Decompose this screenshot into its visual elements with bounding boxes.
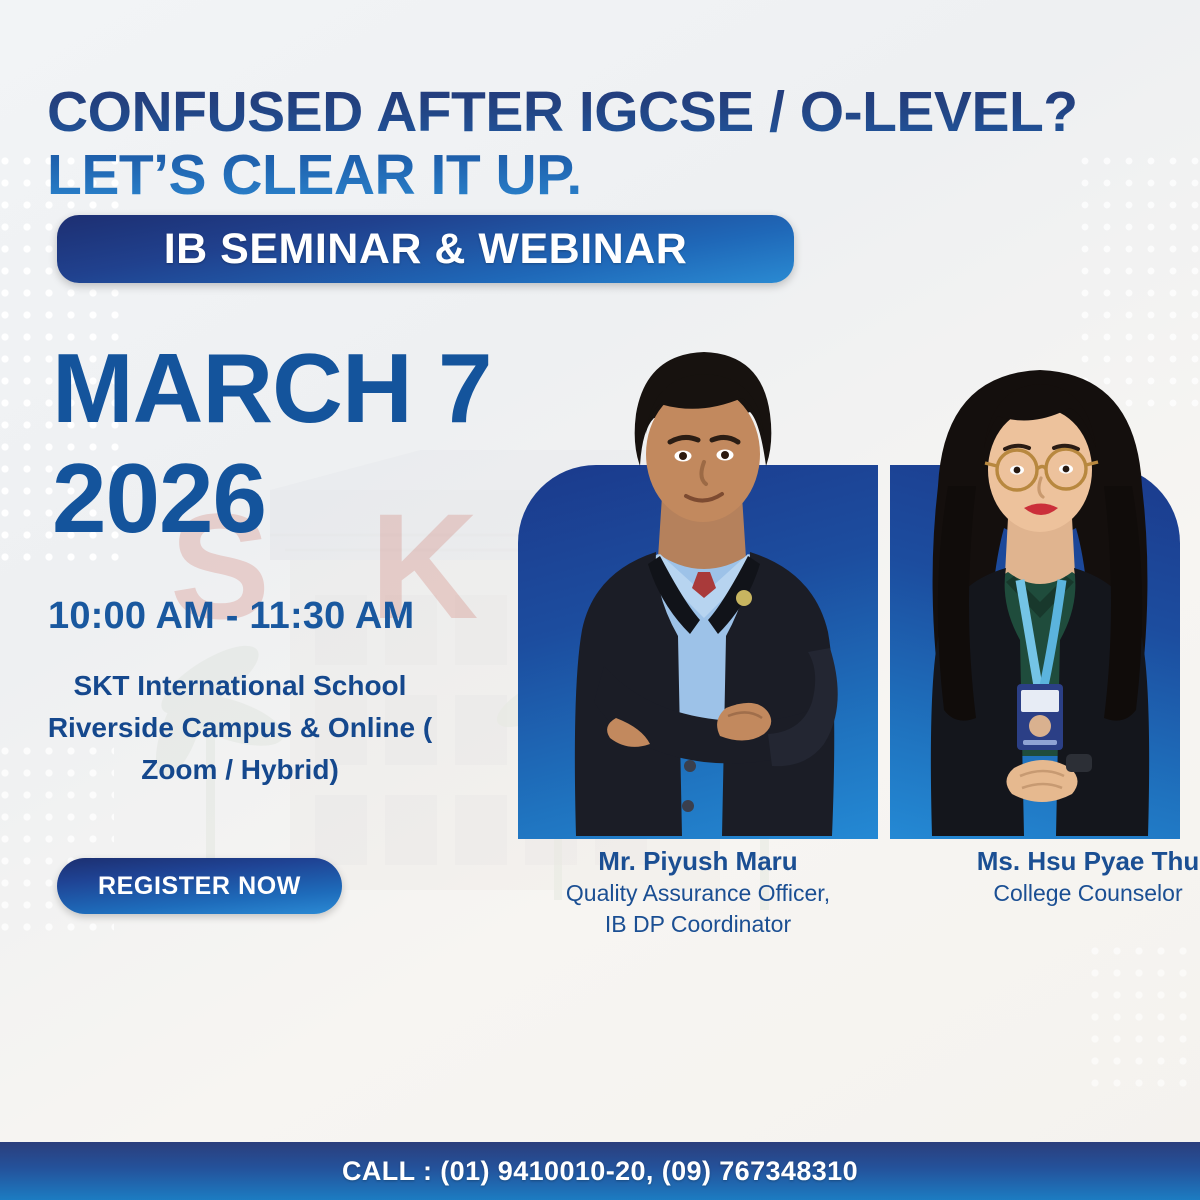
event-time: 10:00 AM - 11:30 AM bbox=[48, 595, 414, 638]
event-year: 2026 bbox=[52, 448, 266, 548]
event-venue: SKT International School Riverside Campu… bbox=[30, 665, 450, 791]
speaker-1-name: Mr. Piyush Maru bbox=[470, 846, 926, 877]
speaker-1-portrait bbox=[512, 336, 892, 841]
seminar-banner: IB SEMINAR & WEBINAR bbox=[57, 215, 794, 283]
seminar-banner-label: IB SEMINAR & WEBINAR bbox=[164, 225, 688, 274]
speaker-2-role: College Counselor bbox=[860, 878, 1200, 909]
event-date-primary: MARCH 7 bbox=[52, 338, 491, 438]
speaker-2-portrait bbox=[880, 336, 1200, 841]
page-title: CONFUSED AFTER IGCSE / O-LEVEL? LET’S CL… bbox=[47, 81, 1167, 207]
logo-strip: SKT INTERNATIONAL SCHOOL bbox=[0, 985, 1200, 1135]
speaker-2-name: Ms. Hsu Pyae Thu bbox=[860, 846, 1200, 877]
poster-root: SKT CONFUSED AFTER IGCSE / O-LEVEL? LET’… bbox=[0, 0, 1200, 1200]
contact-footer-bar: CALL : (01) 9410010-20, (09) 767348310 bbox=[0, 1142, 1200, 1200]
contact-phone-text: CALL : (01) 9410010-20, (09) 767348310 bbox=[342, 1156, 858, 1187]
speaker-1-role: Quality Assurance Officer, IB DP Coordin… bbox=[470, 878, 926, 940]
register-now-button[interactable]: REGISTER NOW bbox=[57, 858, 342, 914]
